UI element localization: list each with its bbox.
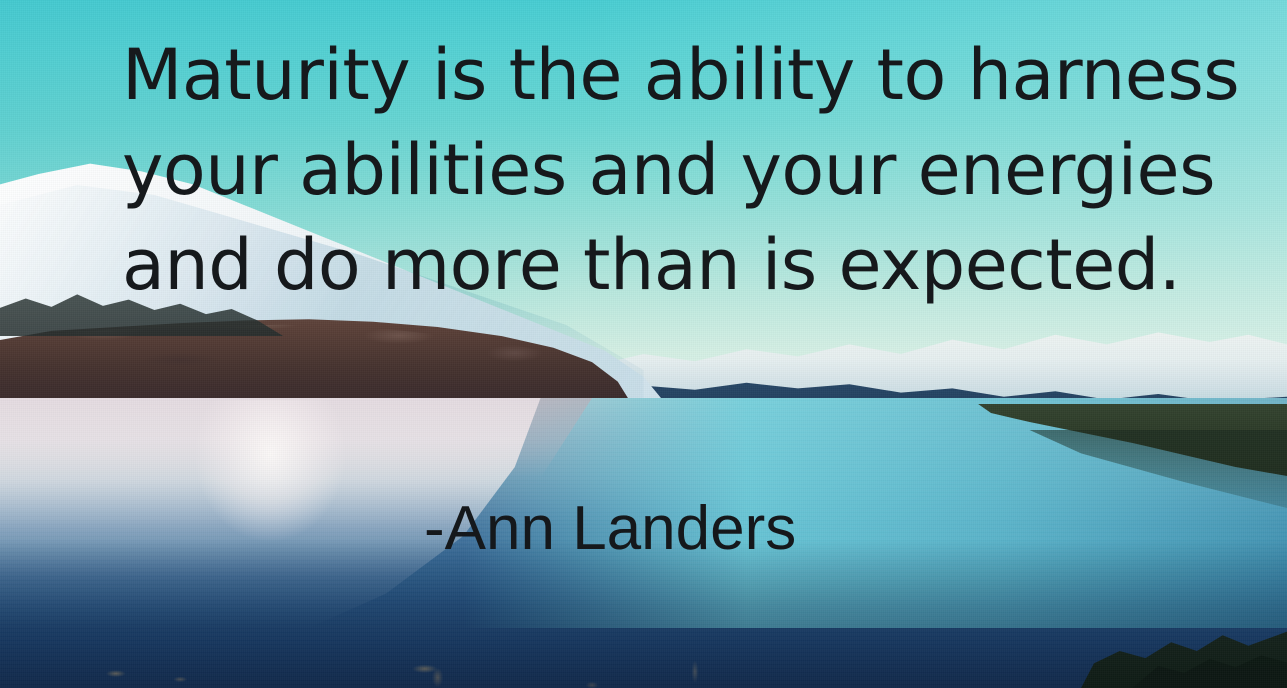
quote-attribution: -Ann Landers [424,492,796,566]
foreground-twigs [0,640,1287,688]
quote-line-1: Maturity is the ability to harness [122,28,1262,123]
quote-line-2: your abilities and your energies [122,123,1262,218]
quote-text-block: Maturity is the ability to harness your … [122,28,1262,313]
quote-line-3: and do more than is expected. [122,218,1262,313]
quote-image: Maturity is the ability to harness your … [0,0,1287,688]
